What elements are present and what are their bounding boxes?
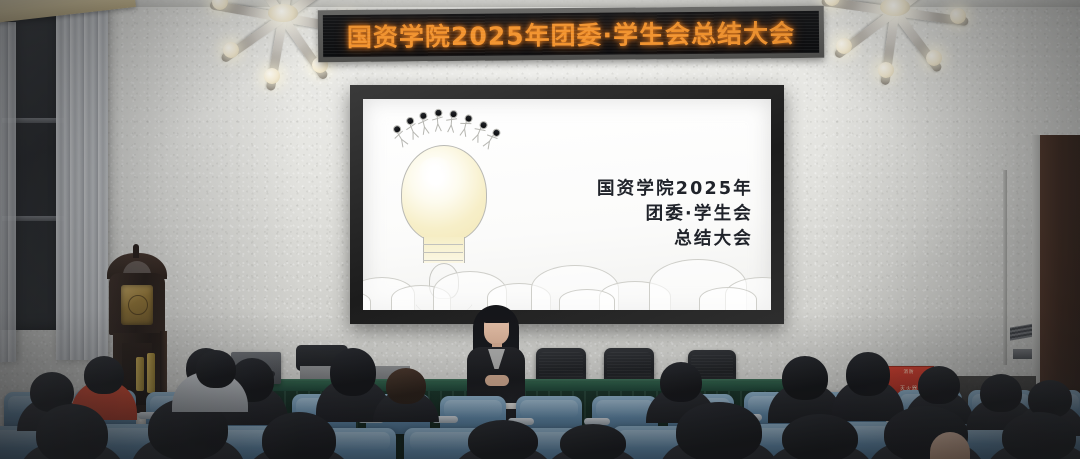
slide-title-line-2: 团委·学生会 [597, 202, 753, 227]
figure-head [449, 110, 458, 119]
auditorium-photo: 国资学院2025年团委·学生会总结大会 国资学院2025年团委·学生会总结大会 [0, 0, 1080, 459]
lightbulb-highlight [419, 157, 453, 185]
cloud [559, 289, 615, 310]
slide-title-text: 国资学院2025年团委·学生会总结大会 [597, 177, 753, 252]
figure-leg [464, 129, 466, 137]
figure-leg [488, 141, 490, 149]
figure-arms [460, 123, 471, 124]
figure-leg [424, 127, 429, 134]
floor-shadow [0, 309, 1080, 459]
stick-figure [417, 111, 431, 134]
figure-leg [413, 131, 419, 137]
projection-screen-frame: 国资学院2025年团委·学生会总结大会 [350, 85, 784, 324]
slide-title-line-1: 国资学院2025年 [597, 177, 753, 202]
figure-leg [477, 135, 478, 143]
figure-leg [451, 125, 454, 133]
figure-leg [437, 124, 441, 132]
led-banner-screen: 国资学院2025年团委·学生会总结大会 [323, 11, 819, 57]
stick-figure [446, 110, 457, 133]
cloud-row [363, 246, 771, 310]
slide-title-line-3: 总结大会 [597, 227, 753, 252]
lightbulb-base-ring [423, 244, 463, 245]
cloud [699, 287, 757, 310]
stick-figure [432, 109, 443, 132]
stick-figure [459, 113, 473, 136]
projection-screen-surface: 国资学院2025年团委·学生会总结大会 [363, 99, 771, 310]
led-banner: 国资学院2025年团委·学生会总结大会 [318, 6, 824, 62]
led-banner-text: 国资学院2025年团委·学生会总结大会 [347, 14, 795, 54]
